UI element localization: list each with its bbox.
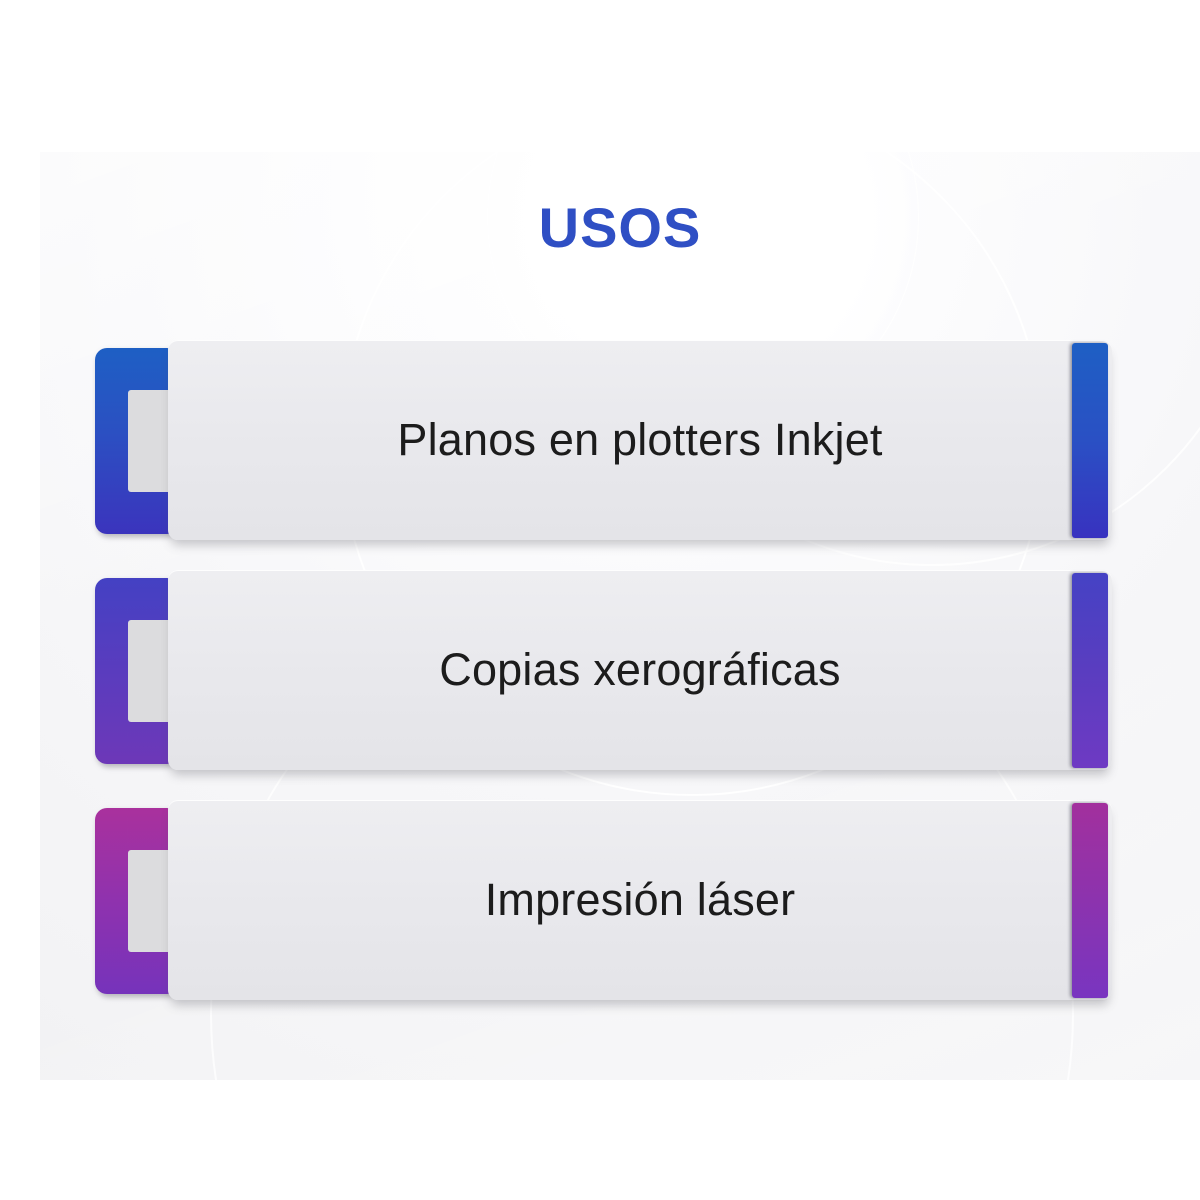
bracket-marker-icon xyxy=(95,578,173,764)
slide-canvas: USOS Planos en plotters Inkjet Copias xe… xyxy=(40,152,1200,1080)
list-item[interactable]: Impresión láser xyxy=(40,800,1200,1000)
accent-bar xyxy=(1072,343,1108,538)
usage-card-label: Copias xerográficas xyxy=(439,644,840,696)
usage-card-label: Planos en plotters Inkjet xyxy=(397,414,882,466)
usage-card[interactable]: Copias xerográficas xyxy=(168,570,1112,770)
usage-card[interactable]: Impresión láser xyxy=(168,800,1112,1000)
page-title: USOS xyxy=(40,200,1200,256)
bracket-marker-icon xyxy=(95,808,173,994)
slide-root: USOS Planos en plotters Inkjet Copias xe… xyxy=(0,0,1200,1200)
list-item[interactable]: Copias xerográficas xyxy=(40,570,1200,770)
accent-bar xyxy=(1072,573,1108,768)
usage-card-label: Impresión láser xyxy=(485,874,796,926)
usage-card[interactable]: Planos en plotters Inkjet xyxy=(168,340,1112,540)
list-item[interactable]: Planos en plotters Inkjet xyxy=(40,340,1200,540)
bracket-marker-icon xyxy=(95,348,173,534)
accent-bar xyxy=(1072,803,1108,998)
